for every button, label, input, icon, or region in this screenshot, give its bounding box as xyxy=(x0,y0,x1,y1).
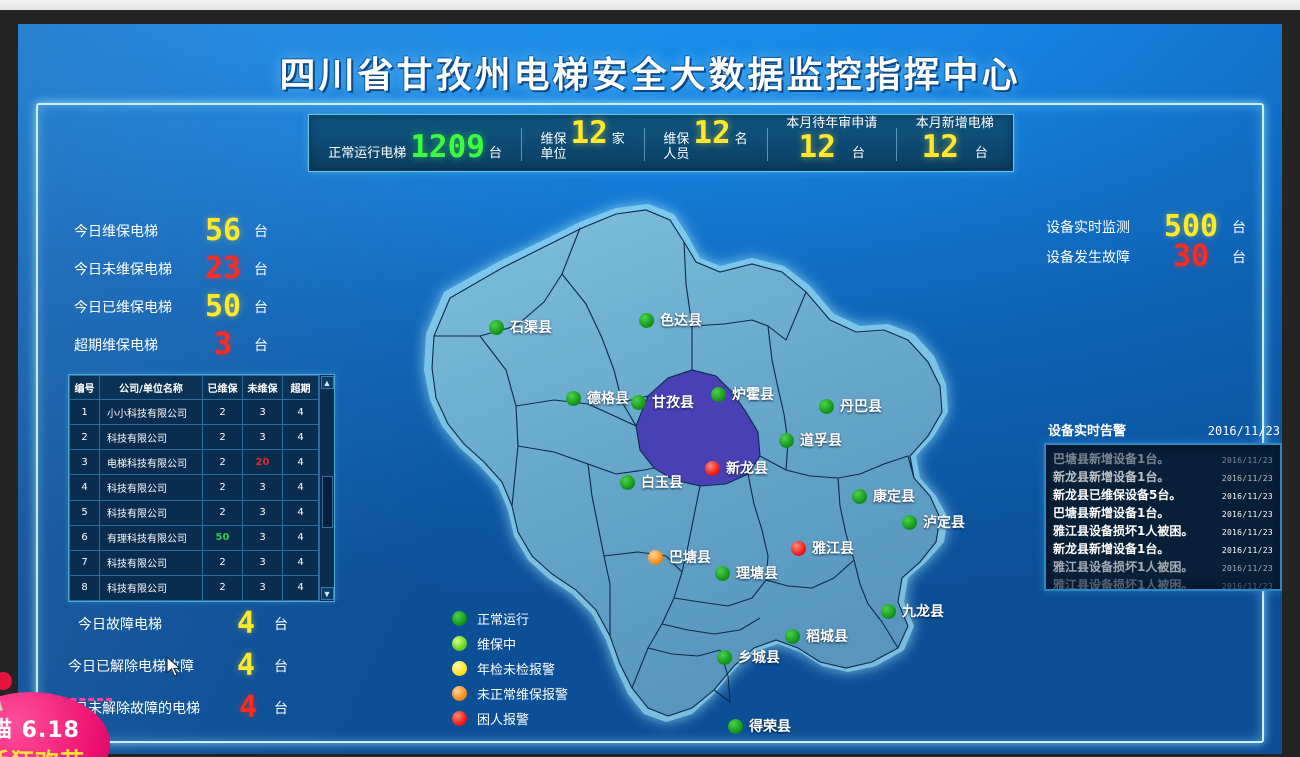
map-county-xinlong[interactable]: 新龙县 xyxy=(705,458,768,478)
cell-overdue: 4 xyxy=(283,450,319,475)
stat-value: 56 xyxy=(192,216,254,246)
alarm-list-item[interactable]: 巴塘县新增设备1台。 2016/11/23 xyxy=(1053,450,1273,468)
cell-id: 1 xyxy=(70,400,100,425)
status-dot-orange-icon xyxy=(648,550,663,565)
legend-label: 正常运行 xyxy=(477,609,529,628)
county-label: 道孚县 xyxy=(800,430,842,450)
county-label: 丹巴县 xyxy=(840,396,882,416)
cell-undone: 3 xyxy=(243,400,283,425)
county-label: 理塘县 xyxy=(736,563,778,583)
alarm-list-item[interactable]: 雅江县设备损坏1人被困。 2016/11/23 xyxy=(1053,522,1273,540)
stat-unit: 家 xyxy=(612,128,625,147)
legend-label: 未正常维保报警 xyxy=(477,684,568,703)
cell-name: 科技有限公司 xyxy=(100,475,203,500)
cell-overdue: 4 xyxy=(283,500,319,525)
stat-value: 4 xyxy=(218,609,274,639)
legend-item-normal[interactable]: 正常运行 xyxy=(452,606,568,631)
alarm-panel-date: 2016/11/23 xyxy=(1208,424,1280,438)
alarm-text: 巴塘县新增设备1台。 xyxy=(1053,504,1169,522)
cell-name: 科技有限公司 xyxy=(100,500,203,525)
tmall-618-ad-overlay[interactable]: 猫 6.18 活狂欢节 20 xyxy=(0,678,122,757)
status-dot-green-icon xyxy=(785,629,800,644)
stat-unit: 台 xyxy=(254,297,268,317)
cell-name: 小小科技有限公司 xyxy=(100,400,203,425)
county-label: 泸定县 xyxy=(923,512,965,532)
alarm-list-item[interactable]: 雅江县设备损坏1人被困。 2016/11/23 xyxy=(1053,558,1273,576)
status-dot-green-icon xyxy=(852,489,867,504)
map-county-jiulong[interactable]: 九龙县 xyxy=(881,601,944,621)
table-row[interactable]: 4 科技有限公司 2 3 4 xyxy=(70,475,319,500)
stat-label: 今日已解除电梯故障 xyxy=(68,656,218,676)
alarm-time: 2016/11/23 xyxy=(1222,578,1273,591)
county-label: 新龙县 xyxy=(726,458,768,478)
table-row[interactable]: 2 科技有限公司 2 3 4 xyxy=(70,425,319,450)
alarm-text: 新龙县已维保设备5台。 xyxy=(1053,486,1181,504)
alarm-text: 雅江县设备损坏1人被困。 xyxy=(1053,576,1193,591)
cell-done: 2 xyxy=(203,575,243,600)
stat-unit: 台 xyxy=(274,614,288,634)
alarm-time: 2016/11/23 xyxy=(1222,524,1273,542)
table-scrollbar[interactable]: ▲ ▼ xyxy=(319,375,334,601)
stat-value: 12 xyxy=(570,118,607,149)
cell-undone: 3 xyxy=(243,500,283,525)
map-county-xiangcheng[interactable]: 乡城县 xyxy=(717,647,780,667)
legend-item-maintaining[interactable]: 维保中 xyxy=(452,631,568,656)
table-header-row: 编号 公司/单位名称 已维保 未维保 超期 xyxy=(70,376,319,400)
cell-done: 2 xyxy=(203,500,243,525)
stat-label: 今日已维保电梯 xyxy=(74,297,192,317)
stat-maint-units[interactable]: 维保 单位 12 家 xyxy=(521,115,644,171)
table-row[interactable]: 3 电梯科技有限公司 2 20 4 xyxy=(70,450,319,475)
status-dot-green-icon xyxy=(715,566,730,581)
alarm-time: 2016/11/23 xyxy=(1222,506,1273,524)
stat-value: 500 xyxy=(1150,212,1232,242)
stat-pending-annual-review[interactable]: 本月待年审申请 12 台 xyxy=(767,115,897,171)
stat-unit: 台 xyxy=(254,259,268,279)
stat-value: 12 xyxy=(693,118,730,149)
map-county-kangding[interactable]: 康定县 xyxy=(852,486,915,506)
cell-name: 科技有限公司 xyxy=(100,550,203,575)
map-county-daocheng[interactable]: 稻城县 xyxy=(785,626,848,646)
ganzi-prefecture-map[interactable]: 石渠县 色达县 德格县 甘孜县 炉霍县 丹巴县 xyxy=(348,174,1008,744)
map-county-daofu[interactable]: 道孚县 xyxy=(779,430,842,450)
map-svg xyxy=(348,174,1008,744)
map-county-luding[interactable]: 泸定县 xyxy=(902,512,965,532)
status-dot-green-icon xyxy=(631,395,646,410)
maintenance-table: 编号 公司/单位名称 已维保 未维保 超期 1 小小科技有限公司 2 3 4 xyxy=(69,375,319,601)
county-label: 九龙县 xyxy=(902,601,944,621)
dashboard-app: 四川省甘孜州电梯安全大数据监控指挥中心 正常运行电梯 1209 台 维保 单位 … xyxy=(18,24,1282,754)
col-header-name: 公司/单位名称 xyxy=(100,376,203,400)
table-row[interactable]: 8 科技有限公司 2 3 4 xyxy=(70,575,319,600)
col-header-undone: 未维保 xyxy=(243,376,283,400)
right-stat-realtime-monitoring[interactable]: 设备实时监测 500 台 xyxy=(1046,212,1276,242)
cell-done: 50 xyxy=(203,525,243,550)
alarm-list-item[interactable]: 新龙县已维保设备5台。 2016/11/23 xyxy=(1053,486,1273,504)
cell-overdue: 4 xyxy=(283,400,319,425)
cell-undone: 3 xyxy=(243,525,283,550)
county-label: 白玉县 xyxy=(641,472,683,492)
cell-id: 5 xyxy=(70,500,100,525)
mouse-cursor-icon xyxy=(166,656,186,678)
map-county-baiyu[interactable]: 白玉县 xyxy=(620,472,683,492)
left-stat-today-maintained[interactable]: 今日维保电梯 56 台 xyxy=(74,216,304,246)
col-header-overdue: 超期 xyxy=(283,376,319,400)
alarm-time: 2016/11/23 xyxy=(1222,488,1273,506)
status-dot-green-icon xyxy=(819,399,834,414)
cell-id: 4 xyxy=(70,475,100,500)
cell-done: 2 xyxy=(203,550,243,575)
county-label: 稻城县 xyxy=(806,626,848,646)
map-county-seda[interactable]: 色达县 xyxy=(639,310,702,330)
cell-done: 2 xyxy=(203,475,243,500)
stat-value: 3 xyxy=(192,330,254,360)
map-county-danba[interactable]: 丹巴县 xyxy=(819,396,882,416)
map-legend: 正常运行 维保中 年检未检报警 未正常维保报警 困人报警 xyxy=(452,606,568,731)
stat-maint-staff[interactable]: 维保 人员 12 名 xyxy=(644,115,767,171)
ad-red-dot-icon xyxy=(0,672,12,690)
cell-id: 8 xyxy=(70,575,100,600)
stat-label: 超期维保电梯 xyxy=(74,335,192,355)
cell-id: 7 xyxy=(70,550,100,575)
map-county-luhuo[interactable]: 炉霍县 xyxy=(711,384,774,404)
status-dot-green-icon xyxy=(902,515,917,530)
stat-unit: 台 xyxy=(1232,247,1246,267)
status-dot-green-icon xyxy=(717,650,732,665)
county-label: 石渠县 xyxy=(510,317,552,337)
county-label: 炉霍县 xyxy=(732,384,774,404)
stat-label-line1: 维保 xyxy=(663,132,689,147)
legend-label: 年检未检报警 xyxy=(477,659,555,678)
col-header-done: 已维保 xyxy=(203,376,243,400)
stat-label: 今日维保电梯 xyxy=(74,221,192,241)
county-label: 巴塘县 xyxy=(669,547,711,567)
stat-unit: 台 xyxy=(852,142,865,161)
stat-new-elevators-month[interactable]: 本月新增电梯 12 台 xyxy=(896,115,1013,171)
stat-unit: 名 xyxy=(735,128,748,147)
alarm-text: 雅江县设备损坏1人被困。 xyxy=(1053,558,1193,576)
stat-unit: 台 xyxy=(489,142,502,161)
status-dot-red-icon xyxy=(791,541,806,556)
legend-item-trapped-person-alert[interactable]: 困人报警 xyxy=(452,706,568,731)
stat-value: 4 xyxy=(222,693,274,723)
map-county-ganzi[interactable]: 甘孜县 xyxy=(631,392,694,412)
right-stat-device-faults[interactable]: 设备发生故障 30 台 xyxy=(1046,242,1276,272)
legend-item-abnormal-maintenance-alert[interactable]: 未正常维保报警 xyxy=(452,681,568,706)
alarm-text: 新龙县新增设备1台。 xyxy=(1053,540,1169,558)
status-dot-green-icon xyxy=(728,719,743,734)
cell-done: 2 xyxy=(203,425,243,450)
stat-unit: 台 xyxy=(274,698,288,718)
map-county-batang[interactable]: 巴塘县 xyxy=(648,547,711,567)
stat-label: 设备实时监测 xyxy=(1046,217,1150,237)
legend-item-annual-inspection-alert[interactable]: 年检未检报警 xyxy=(452,656,568,681)
cell-name: 有理科技有限公司 xyxy=(100,525,203,550)
status-dot-green-icon xyxy=(711,387,726,402)
map-county-shiqu[interactable]: 石渠县 xyxy=(489,317,552,337)
legend-label: 困人报警 xyxy=(477,709,529,728)
map-county-yajiang[interactable]: 雅江县 xyxy=(791,538,854,558)
legend-dot-red-icon xyxy=(452,711,467,726)
stat-unit: 台 xyxy=(254,221,268,241)
status-dot-green-icon xyxy=(620,475,635,490)
alarm-time: 2016/11/23 xyxy=(1222,470,1273,488)
status-dot-green-icon xyxy=(779,433,794,448)
status-dot-red-icon xyxy=(705,461,720,476)
stat-normal-running[interactable]: 正常运行电梯 1209 台 xyxy=(309,115,521,171)
ad-subheadline: 活狂欢节 xyxy=(0,742,110,757)
alarm-panel-title: 设备实时告警 xyxy=(1048,420,1126,439)
stat-value: 50 xyxy=(192,292,254,322)
stat-label: 今日未维保电梯 xyxy=(74,259,192,279)
stat-label: 今日故障电梯 xyxy=(78,614,218,634)
cell-id: 3 xyxy=(70,450,100,475)
status-dot-green-icon xyxy=(639,313,654,328)
stat-unit: 台 xyxy=(274,656,288,676)
legend-label: 维保中 xyxy=(477,634,516,653)
table-row[interactable]: 1 小小科技有限公司 2 3 4 xyxy=(70,400,319,425)
county-label: 雅江县 xyxy=(812,538,854,558)
left-stat-today-unmaintained[interactable]: 今日未维保电梯 23 台 xyxy=(74,254,304,284)
county-label: 色达县 xyxy=(660,310,702,330)
table-body: 1 小小科技有限公司 2 3 4 2 科技有限公司 2 3 4 3 xyxy=(70,400,319,601)
legend-dot-lightgreen-icon xyxy=(452,636,467,651)
cell-done: 2 xyxy=(203,400,243,425)
left-stat-today-faults[interactable]: 今日故障电梯 4 台 xyxy=(78,609,318,639)
cell-overdue: 4 xyxy=(283,475,319,500)
alarm-list-item[interactable]: 雅江县设备损坏1人被困。 2016/11/23 xyxy=(1053,576,1273,591)
stat-label-line2: 人员 xyxy=(663,147,689,162)
cell-name: 科技有限公司 xyxy=(100,425,203,450)
cell-name: 电梯科技有限公司 xyxy=(100,450,203,475)
cell-done: 2 xyxy=(203,450,243,475)
scrollbar-thumb[interactable] xyxy=(322,476,333,527)
table-row[interactable]: 5 科技有限公司 2 3 4 xyxy=(70,500,319,525)
legend-dot-yellow-icon xyxy=(452,661,467,676)
stat-label: 维保 人员 xyxy=(663,133,689,163)
alarm-text: 雅江县设备损坏1人被困。 xyxy=(1053,522,1193,540)
map-county-derong[interactable]: 得荣县 xyxy=(728,716,791,736)
stat-value: 23 xyxy=(192,254,254,284)
status-dot-green-icon xyxy=(881,604,896,619)
stat-value: 12 xyxy=(922,132,959,163)
cell-undone: 3 xyxy=(243,475,283,500)
stat-label: 设备发生故障 xyxy=(1046,247,1150,267)
stat-label: 正常运行电梯 xyxy=(328,147,406,162)
stat-label-line1: 维保 xyxy=(540,132,566,147)
stat-value: 1209 xyxy=(410,132,485,163)
cell-undone: 3 xyxy=(243,575,283,600)
county-label: 德格县 xyxy=(587,388,629,408)
top-summary-bar: 正常运行电梯 1209 台 维保 单位 12 家 xyxy=(308,114,1014,172)
cell-overdue: 4 xyxy=(283,575,319,600)
stat-value: 30 xyxy=(1150,242,1232,272)
scrollbar-track[interactable] xyxy=(322,389,333,587)
cell-undone: 3 xyxy=(243,425,283,450)
stat-label: 维保 单位 xyxy=(540,133,566,163)
status-dot-green-icon xyxy=(489,320,504,335)
col-header-id: 编号 xyxy=(70,376,100,400)
status-dot-green-icon xyxy=(566,391,581,406)
alarm-list-item[interactable]: 新龙县新增设备1台。 2016/11/23 xyxy=(1053,540,1273,558)
cell-undone: 3 xyxy=(243,550,283,575)
cell-id: 2 xyxy=(70,425,100,450)
stat-label-line2: 单位 xyxy=(540,147,566,162)
left-stat-today-faults-cleared[interactable]: 今日已解除电梯故障 4 台 xyxy=(68,651,318,681)
cell-overdue: 4 xyxy=(283,550,319,575)
left-stat-today-done-maintained[interactable]: 今日已维保电梯 50 台 xyxy=(74,292,304,322)
cell-overdue: 4 xyxy=(283,525,319,550)
stat-value: 4 xyxy=(218,651,274,681)
screen-root: 四川省甘孜州电梯安全大数据监控指挥中心 正常运行电梯 1209 台 维保 单位 … xyxy=(0,0,1300,757)
legend-dot-orange-icon xyxy=(452,686,467,701)
stat-unit: 台 xyxy=(254,335,268,355)
legend-dot-green-icon xyxy=(452,611,467,626)
county-label: 康定县 xyxy=(873,486,915,506)
left-stat-overdue-maintenance[interactable]: 超期维保电梯 3 台 xyxy=(74,330,304,360)
table-row[interactable]: 6 有理科技有限公司 50 3 4 xyxy=(70,525,319,550)
cell-overdue: 4 xyxy=(283,425,319,450)
county-label: 乡城县 xyxy=(738,647,780,667)
county-label: 得荣县 xyxy=(749,716,791,736)
cell-id: 6 xyxy=(70,525,100,550)
stat-value: 12 xyxy=(799,132,836,163)
scroll-up-icon[interactable]: ▲ xyxy=(321,376,334,389)
alarm-panel-header: 设备实时告警 2016/11/23 xyxy=(1048,420,1280,439)
map-county-litang[interactable]: 理塘县 xyxy=(715,563,778,583)
alarm-list-item[interactable]: 新龙县新增设备1台。 2016/11/23 xyxy=(1053,468,1273,486)
alarm-list-item[interactable]: 巴塘县新增设备1台。 2016/11/23 xyxy=(1053,504,1273,522)
county-label: 甘孜县 xyxy=(652,392,694,412)
stat-unit: 台 xyxy=(975,142,988,161)
cell-name: 科技有限公司 xyxy=(100,575,203,600)
ad-headline: 猫 6.18 xyxy=(0,712,110,744)
table-row[interactable]: 7 科技有限公司 2 3 4 xyxy=(70,550,319,575)
cell-undone: 20 xyxy=(243,450,283,475)
stat-unit: 台 xyxy=(1232,217,1246,237)
scroll-down-icon[interactable]: ▼ xyxy=(321,587,334,600)
alarm-text: 巴塘县新增设备1台。 xyxy=(1053,450,1169,468)
page-title: 四川省甘孜州电梯安全大数据监控指挥中心 xyxy=(18,46,1282,98)
alarm-text: 新龙县新增设备1台。 xyxy=(1053,468,1169,486)
maintenance-table-panel[interactable]: 编号 公司/单位名称 已维保 未维保 超期 1 小小科技有限公司 2 3 4 xyxy=(68,374,335,602)
map-county-dege[interactable]: 德格县 xyxy=(566,388,629,408)
alarm-list[interactable]: 巴塘县新增设备1台。 2016/11/23 新龙县新增设备1台。 2016/11… xyxy=(1044,443,1282,591)
browser-top-strip xyxy=(0,0,1300,10)
